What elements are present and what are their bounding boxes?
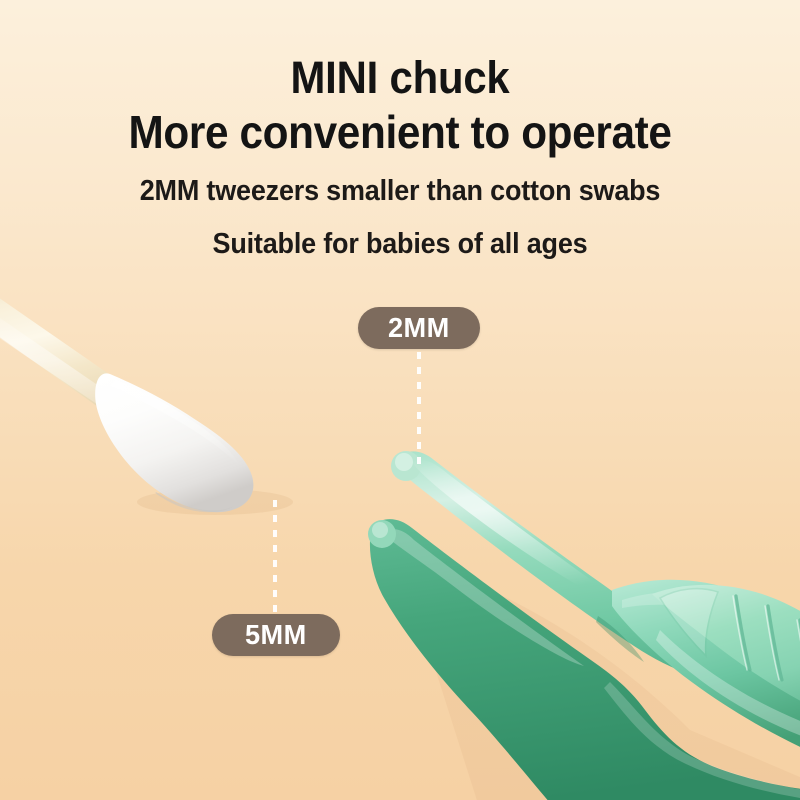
headline-block: MINI chuck More convenient to operate 2M… — [0, 0, 800, 261]
subheadline-line-2: Suitable for babies of all ages — [28, 208, 772, 261]
callout-badge-5mm: 5MM — [212, 614, 340, 656]
leader-line-5mm — [273, 500, 277, 612]
subheadline-line-1: 2MM tweezers smaller than cotton swabs — [28, 156, 772, 208]
leader-line-2mm — [417, 352, 421, 468]
headline-line-2: More convenient to operate — [32, 102, 768, 157]
callout-label-5mm: 5MM — [245, 619, 307, 651]
callout-badge-2mm: 2MM — [358, 307, 480, 349]
tweezers-image — [360, 430, 800, 800]
headline-line-1: MINI chuck — [28, 0, 772, 102]
product-banner: 2MM 5MM MINI chuck More convenient to op… — [0, 0, 800, 800]
callout-label-2mm: 2MM — [388, 312, 450, 344]
cotton-swab-image — [0, 296, 340, 546]
